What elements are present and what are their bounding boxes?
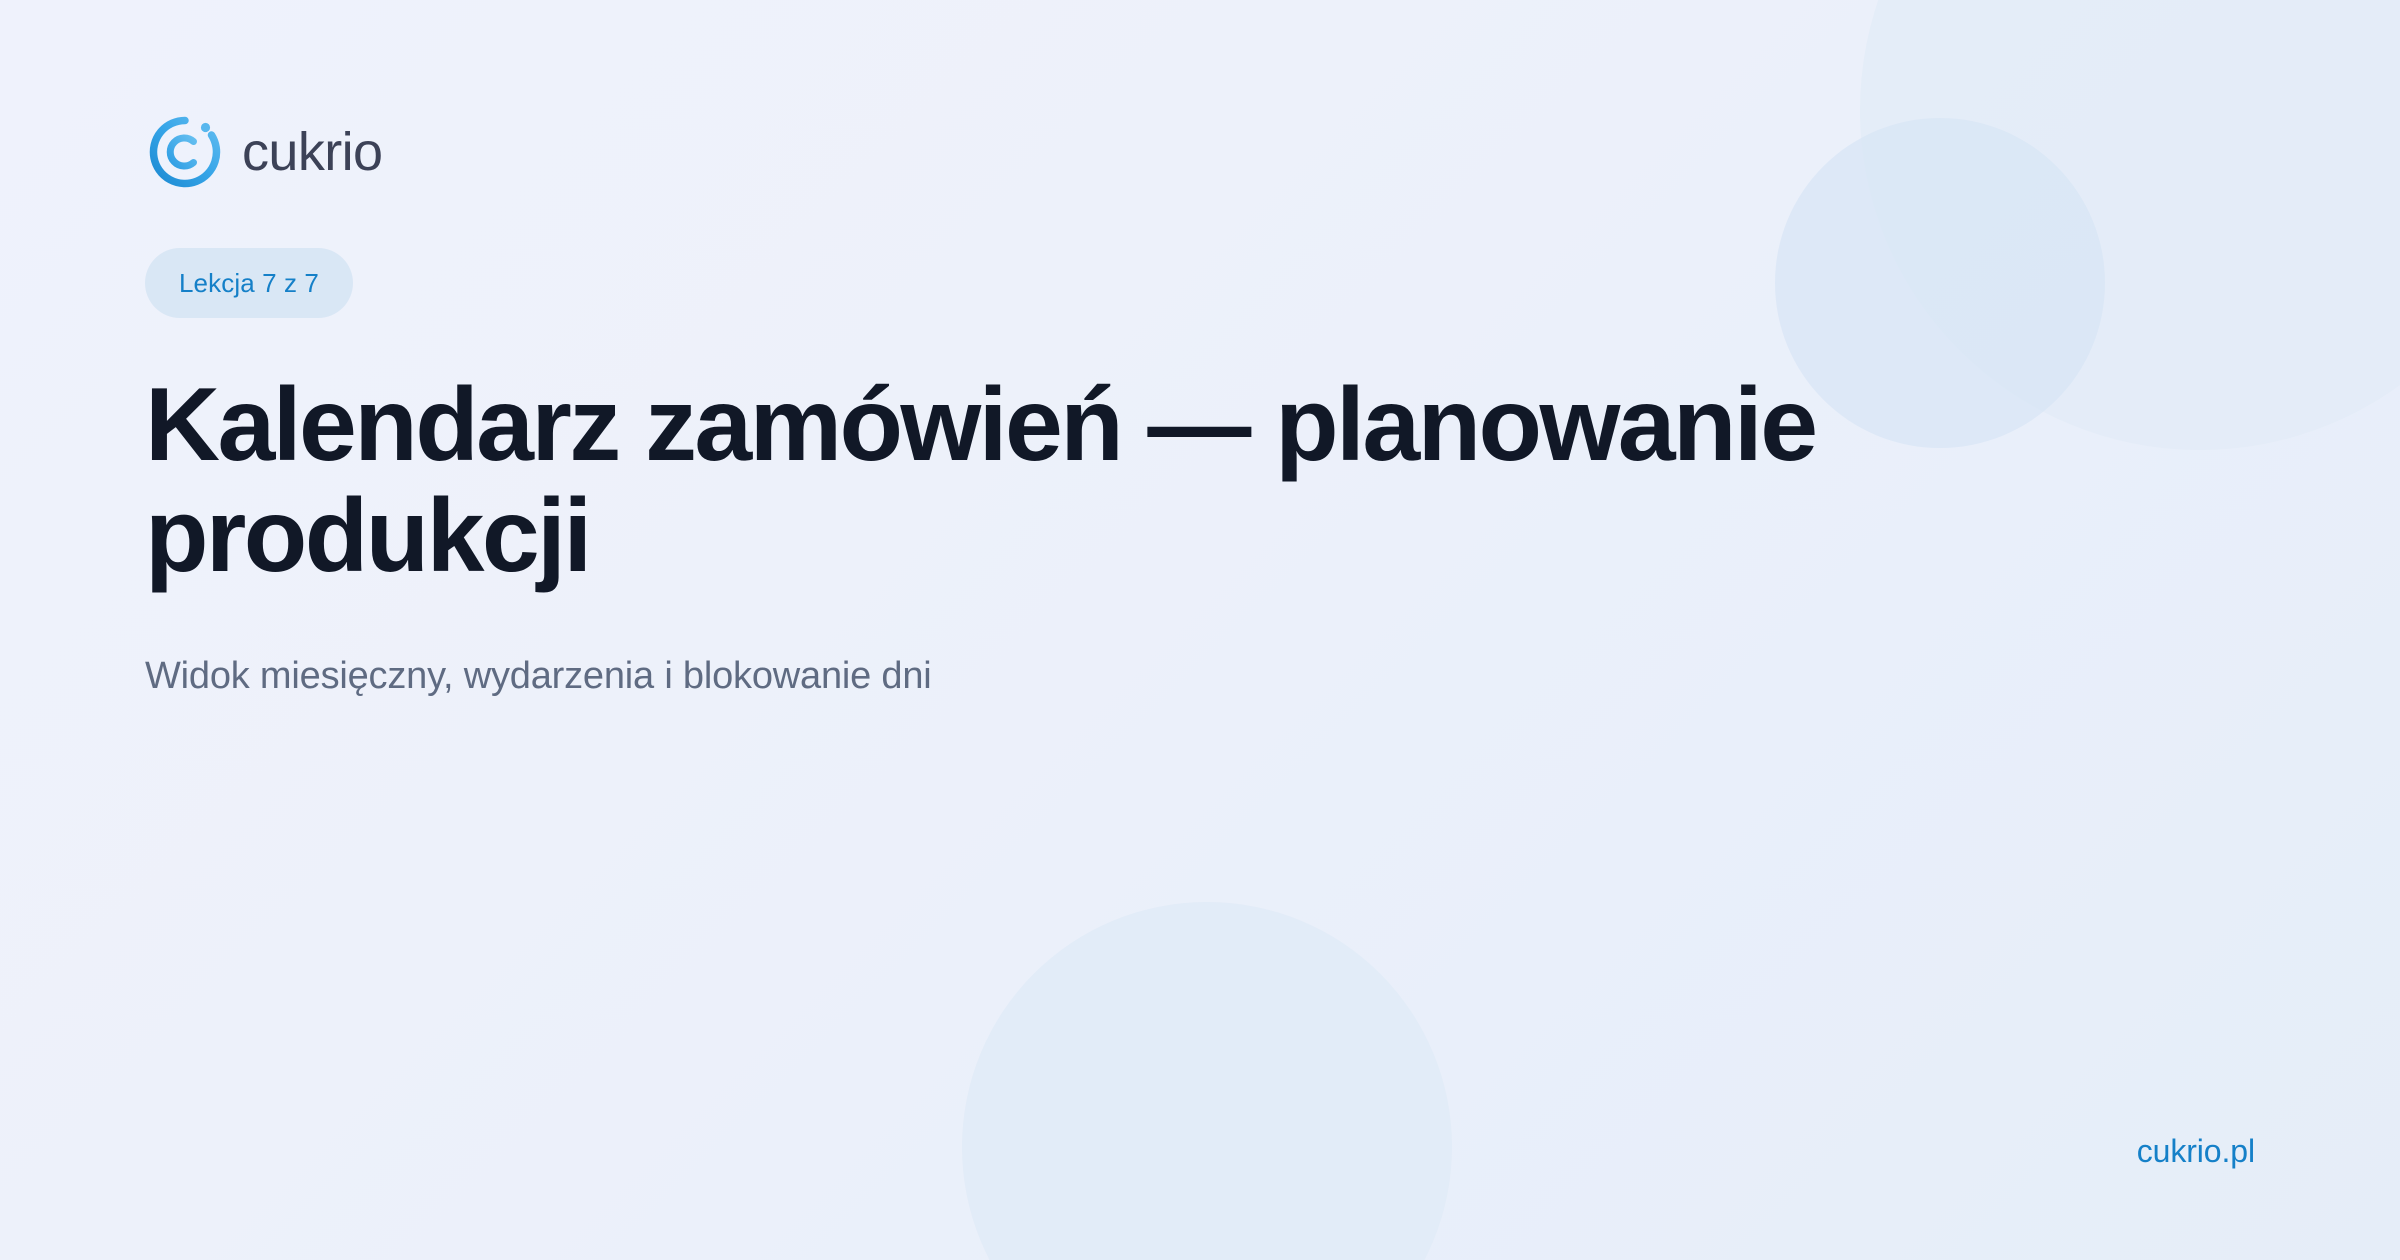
lesson-badge: Lekcja 7 z 7 bbox=[145, 248, 353, 318]
decorative-circle-top-right-large bbox=[1860, 0, 2400, 450]
page-subtitle: Widok miesięczny, wydarzenia i blokowani… bbox=[145, 655, 932, 698]
brand-logo: cukrio bbox=[145, 112, 382, 192]
page-title: Kalendarz zamówień — planowanie produkcj… bbox=[145, 370, 1905, 593]
cukrio-circle-c-icon bbox=[145, 112, 225, 192]
slide-canvas: cukrio Lekcja 7 z 7 Kalendarz zamówień —… bbox=[0, 0, 2400, 1260]
footer-site-url[interactable]: cukrio.pl bbox=[2137, 1133, 2255, 1170]
brand-wordmark: cukrio bbox=[242, 125, 382, 179]
decorative-circle-bottom bbox=[962, 902, 1452, 1260]
